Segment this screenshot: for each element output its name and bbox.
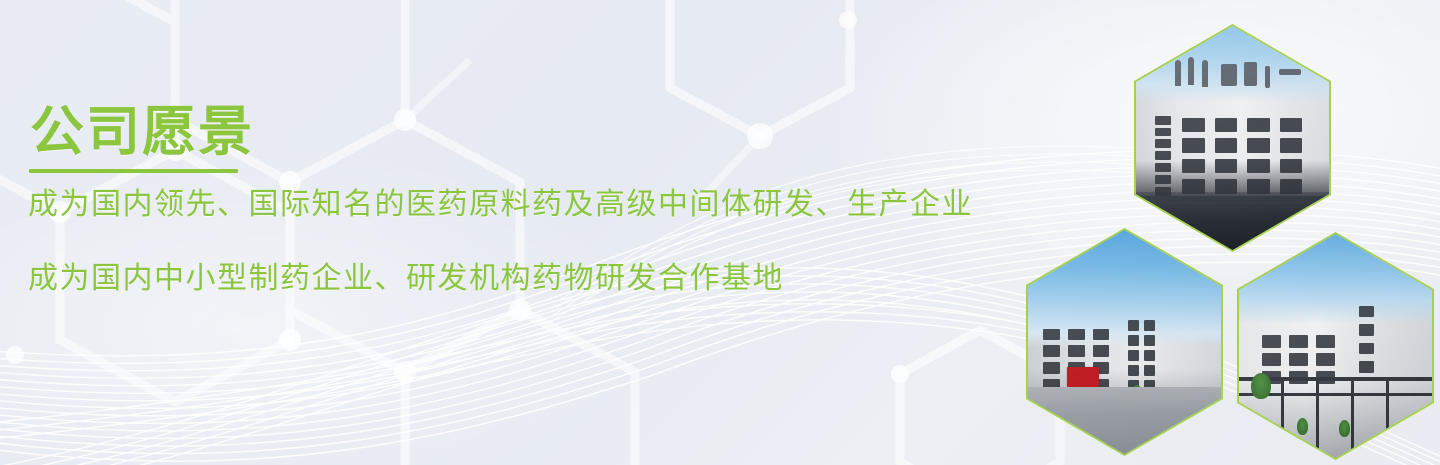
photo-pharmaceutical-plant-workshop xyxy=(1136,26,1329,250)
title-underline xyxy=(29,169,238,173)
photo-production-building-pipe-rack xyxy=(1239,234,1432,458)
vision-statement-line-1: 成为国内领先、国际知名的医药原料药及高级中间体研发、生产企业 xyxy=(28,187,1048,223)
company-vision-banner: 公司愿景 成为国内领先、国际知名的医药原料药及高级中间体研发、生产企业 成为国内… xyxy=(0,0,1440,465)
hex-photo-office-building-red-sign[interactable] xyxy=(1026,228,1223,456)
hex-photo-pharmaceutical-plant-workshop[interactable] xyxy=(1134,24,1331,252)
vision-statement-line-2: 成为国内中小型制药企业、研发机构药物研发合作基地 xyxy=(28,261,1048,297)
vision-text-block: 公司愿景 成为国内领先、国际知名的医药原料药及高级中间体研发、生产企业 成为国内… xyxy=(28,104,1048,297)
hex-photo-production-building-pipe-rack[interactable] xyxy=(1237,232,1434,460)
page-title: 公司愿景 xyxy=(28,104,258,167)
photo-office-building-red-sign xyxy=(1028,230,1221,454)
